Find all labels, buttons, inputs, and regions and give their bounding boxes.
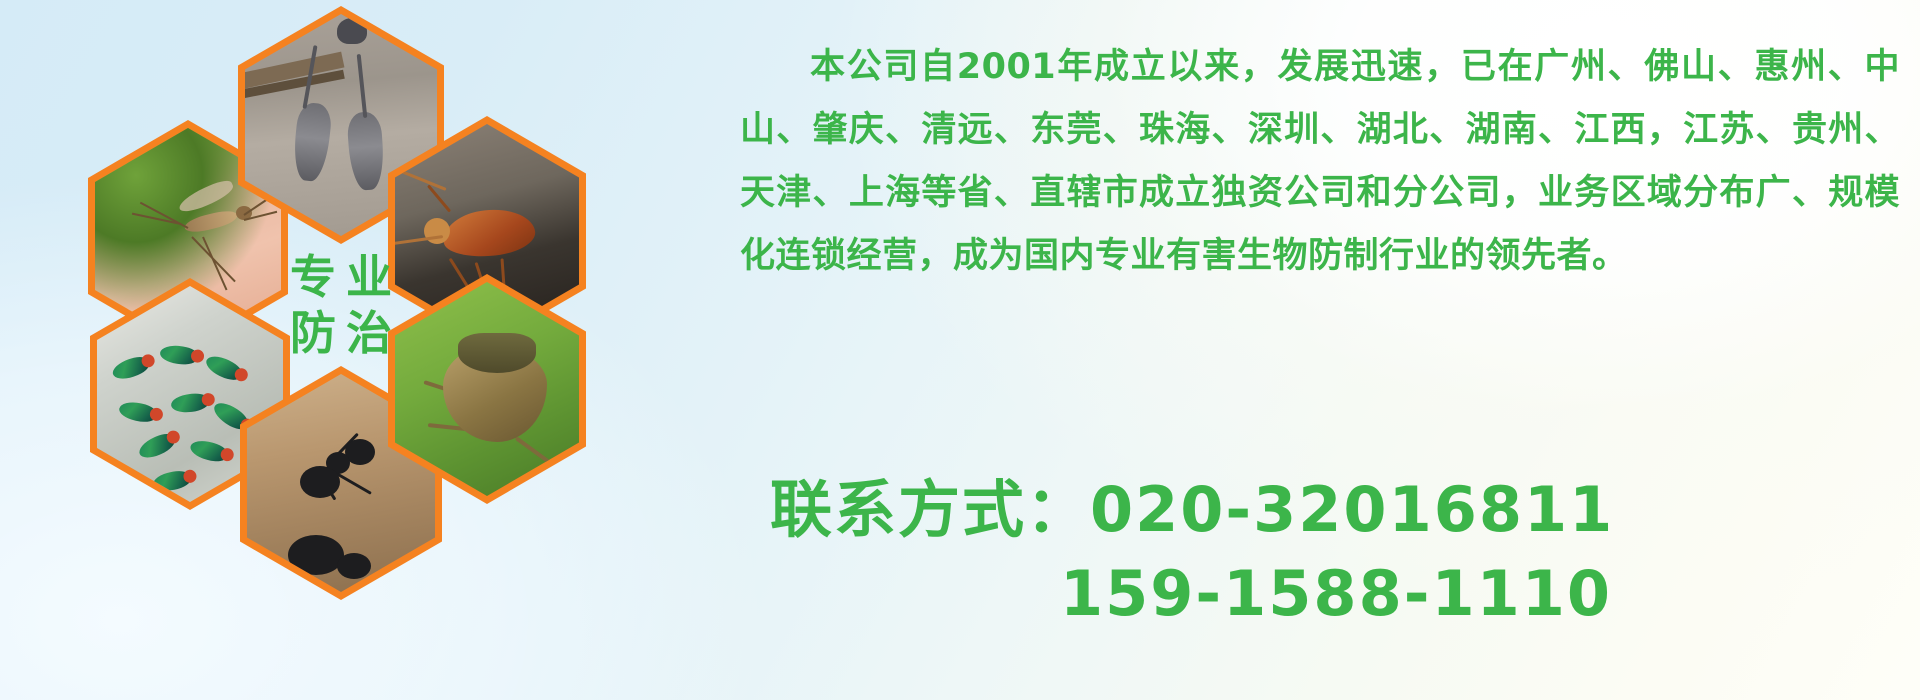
slogan-line-2: 防治 <box>280 305 402 361</box>
company-intro-paragraph: 本公司自2001年成立以来，发展迅速，已在广州、佛山、惠州、中山、肇庆、清远、东… <box>740 36 1900 288</box>
slogan-line-1: 专业 <box>280 249 402 305</box>
contact-line-primary[interactable]: 联系方式：020-32016811 <box>770 468 1900 552</box>
hexagon-photo-cluster: 专业 防治 <box>88 8 588 568</box>
promo-banner: 专业 防治 本公司自2001年成立以来，发展迅速，已在广州、佛山、惠州、中山、肇… <box>0 0 1920 700</box>
contact-block: 联系方式：020-32016811 159-1588-1110 <box>770 468 1900 636</box>
contact-line-secondary[interactable]: 159-1588-1110 <box>770 552 1900 636</box>
company-intro-block: 本公司自2001年成立以来，发展迅速，已在广州、佛山、惠州、中山、肇庆、清远、东… <box>740 36 1900 288</box>
